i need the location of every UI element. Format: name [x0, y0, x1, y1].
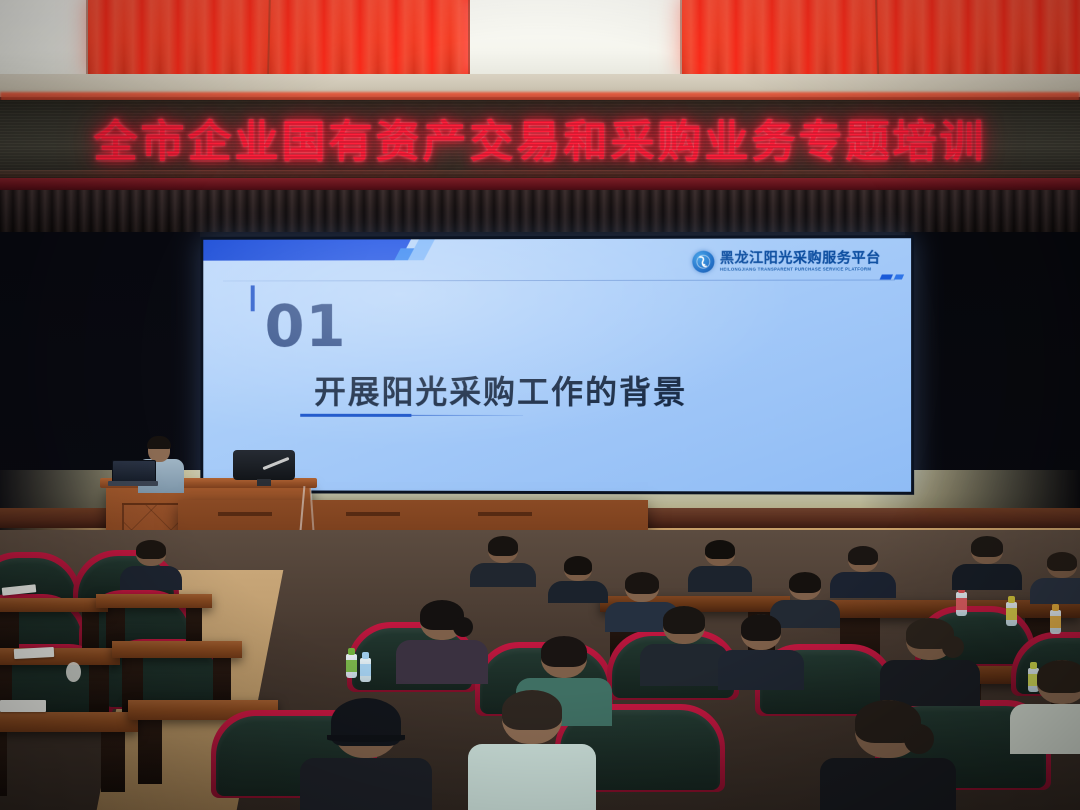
attendee-hair — [789, 572, 821, 593]
attendee-hair — [625, 572, 659, 594]
bottle-cap — [1052, 604, 1059, 611]
ceiling-panel-red — [88, 0, 270, 74]
attendee-shoulders — [548, 581, 608, 603]
water-bottle-icon — [1006, 596, 1017, 628]
attendee-shoulders — [120, 566, 182, 590]
desk-seam — [218, 512, 272, 516]
laptop-base — [108, 481, 158, 486]
attendee-hair — [136, 540, 166, 559]
attendee-shoulders — [718, 650, 804, 690]
attendee-hair — [663, 606, 705, 634]
brand-name-cn: 黑龙江阳光采购服务平台 — [720, 251, 881, 265]
paper-sheet — [0, 700, 46, 712]
attendee — [1030, 552, 1080, 604]
hair-bun — [904, 724, 934, 754]
desk-leg — [101, 732, 125, 792]
attendee — [468, 690, 596, 810]
attendee-hair — [971, 536, 1003, 557]
bottle-cap — [348, 648, 355, 655]
attendee-hair — [564, 556, 592, 575]
cap-brim — [327, 735, 405, 742]
monitor-screen — [233, 450, 295, 480]
projection-screen: 黑龙江阳光采购服务平台 HEILONGJIANG TRANSPARENT PUR… — [200, 235, 914, 495]
attendee — [880, 618, 980, 706]
slide-rule-thick — [300, 414, 411, 417]
bottle-label — [360, 664, 371, 676]
ceiling-panel-red — [682, 0, 878, 74]
slide-rule-thin — [411, 415, 523, 416]
laptop-icon — [108, 460, 158, 486]
ceiling-seam — [468, 0, 470, 76]
presenter-hair — [147, 436, 171, 449]
screen-glare — [203, 238, 911, 492]
attendee — [952, 536, 1022, 590]
ceiling-panel-white — [0, 0, 88, 74]
bottle-cap — [362, 652, 369, 659]
water-bottle-icon — [1050, 604, 1061, 636]
attendee-hair — [541, 636, 587, 667]
attendee-shoulders — [952, 564, 1022, 590]
attendee-shoulders — [640, 644, 728, 686]
attendee — [718, 614, 804, 690]
hair-bun — [453, 617, 473, 637]
attendee-hair — [741, 614, 781, 641]
desk-leg — [0, 732, 7, 796]
water-bottle-icon — [956, 586, 967, 618]
conference-hall-photo: 全市企业国有资产交易和采购业务专题培训 — [0, 0, 1080, 810]
attendee — [300, 700, 432, 810]
attendee — [640, 606, 728, 686]
hair-bun — [942, 636, 964, 658]
attendee-hair — [705, 540, 735, 559]
attendee-shoulders — [468, 744, 596, 810]
desk-leg — [138, 720, 162, 784]
attendee-shoulders — [820, 758, 956, 810]
desk-leg — [89, 665, 109, 716]
paper-sheet — [14, 647, 54, 659]
ceiling-seam — [680, 0, 682, 76]
slide-section-number: 01 — [265, 297, 347, 355]
bottle-label — [1050, 616, 1061, 628]
slide-header-bar — [203, 239, 379, 260]
desk-seam — [478, 512, 532, 516]
attendee-shoulders — [300, 758, 432, 810]
attendee — [688, 540, 752, 592]
curtain-valance — [0, 190, 1080, 236]
brand-name-en: HEILONGJIANG TRANSPARENT PURCHASE SERVIC… — [720, 268, 881, 273]
attendee — [1010, 660, 1080, 754]
ceiling-seam — [86, 0, 88, 76]
bottle-cap — [1008, 596, 1015, 603]
desk-seam — [346, 512, 400, 516]
attendee — [396, 600, 488, 684]
slide-header-blocks — [881, 274, 903, 279]
bottle-label — [1006, 608, 1017, 620]
attendee — [820, 700, 956, 810]
attendee-hair — [1047, 552, 1077, 571]
attendee-shoulders — [396, 640, 488, 684]
attendee-hair — [1037, 660, 1080, 693]
brand-logo: 黑龙江阳光采购服务平台 HEILONGJIANG TRANSPARENT PUR… — [692, 250, 881, 272]
attendee-shoulders — [470, 563, 536, 587]
desk — [96, 594, 212, 608]
attendee — [470, 536, 536, 587]
slide-title: 开展阳光采购工作的背景 — [314, 367, 687, 413]
desk-plaque — [66, 662, 81, 682]
attendee-hair — [848, 546, 878, 565]
water-bottle-icon — [346, 648, 357, 680]
desk — [0, 712, 138, 732]
water-bottle-icon — [360, 652, 371, 684]
attendee — [120, 540, 182, 590]
bottle-label — [956, 598, 967, 610]
audience-seating-area — [0, 530, 1080, 810]
presentation-slide: 黑龙江阳光采购服务平台 HEILONGJIANG TRANSPARENT PUR… — [203, 238, 911, 492]
attendee — [548, 556, 608, 603]
attendee-shoulders — [1010, 704, 1080, 754]
led-banner-text: 全市企业国有资产交易和采购业务专题培训 — [94, 106, 987, 170]
monitor-stand — [257, 479, 271, 486]
desk — [112, 641, 242, 658]
circular-logo-icon — [692, 251, 714, 273]
bottle-label — [346, 660, 357, 672]
slide-accent-bar — [251, 285, 255, 311]
ceiling-panel-white — [470, 0, 682, 74]
attendee-hair — [488, 536, 518, 556]
ceiling — [0, 0, 1080, 97]
slide-header-slash — [408, 239, 435, 260]
ceiling-panel-red — [270, 0, 470, 74]
attendee-shoulders — [1030, 578, 1080, 604]
attendee-shoulders — [688, 566, 752, 592]
attendee-hair — [502, 690, 562, 730]
led-banner: 全市企业国有资产交易和采购业务专题培训 — [0, 100, 1080, 178]
desk — [0, 598, 108, 612]
slide-hairline — [223, 279, 895, 281]
ceiling-panel-red — [878, 0, 1080, 74]
brand-text: 黑龙江阳光采购服务平台 HEILONGJIANG TRANSPARENT PUR… — [720, 251, 881, 272]
